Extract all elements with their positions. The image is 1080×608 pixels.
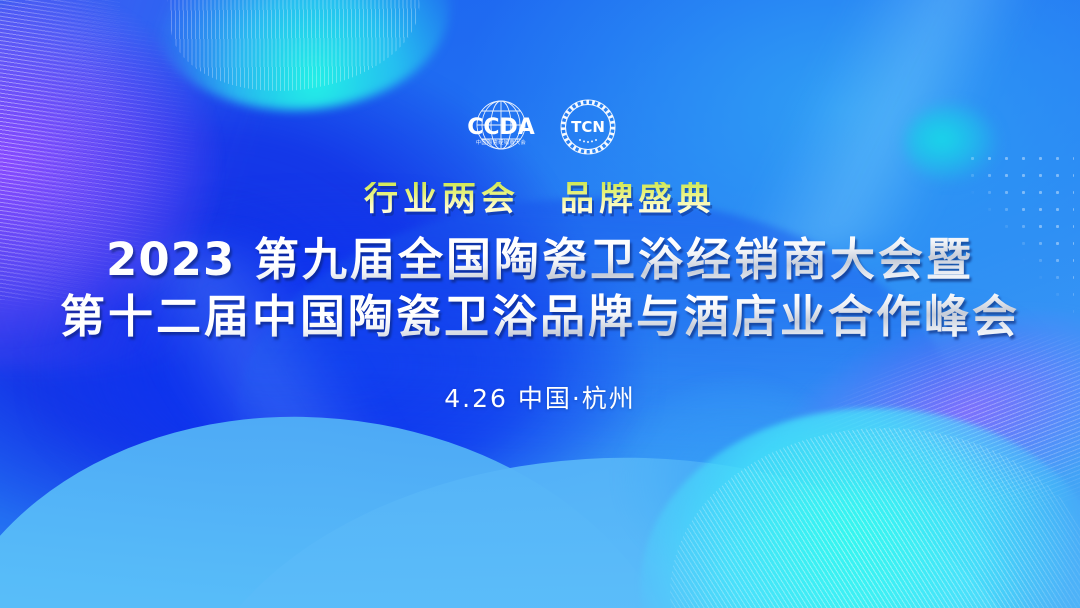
slogan-right: 品牌盛典 [560, 182, 716, 216]
svg-text:CCDA: CCDA [467, 115, 535, 140]
main-title: 2023 第九届全国陶瓷卫浴经销商大会暨 第十二届中国陶瓷卫浴品牌与酒店业合作峰… [60, 234, 1020, 343]
title-line-2: 第十二届中国陶瓷卫浴品牌与酒店业合作峰会 [60, 291, 1020, 344]
event-poster: CCDA 中国陶瓷经销商大会 TCN [0, 0, 1080, 608]
svg-text:中国陶瓷经销商大会: 中国陶瓷经销商大会 [476, 138, 526, 146]
slogan-left: 行业两会 [364, 182, 520, 216]
ccda-logo: CCDA 中国陶瓷经销商大会 [460, 98, 542, 156]
poster-content: CCDA 中国陶瓷经销商大会 TCN [0, 0, 1080, 608]
tcn-logo: TCN [556, 96, 620, 158]
slogan: 行业两会 品牌盛典 [364, 182, 716, 216]
svg-text:TCN: TCN [571, 118, 605, 136]
date-location: 4.26 中国·杭州 [444, 379, 636, 415]
title-year: 2023 [106, 233, 235, 286]
title-line-1: 2023 第九届全国陶瓷卫浴经销商大会暨 [106, 234, 974, 287]
title-line-1-text: 第九届全国陶瓷卫浴经销商大会暨 [254, 233, 974, 286]
logo-row: CCDA 中国陶瓷经销商大会 TCN [460, 96, 620, 158]
